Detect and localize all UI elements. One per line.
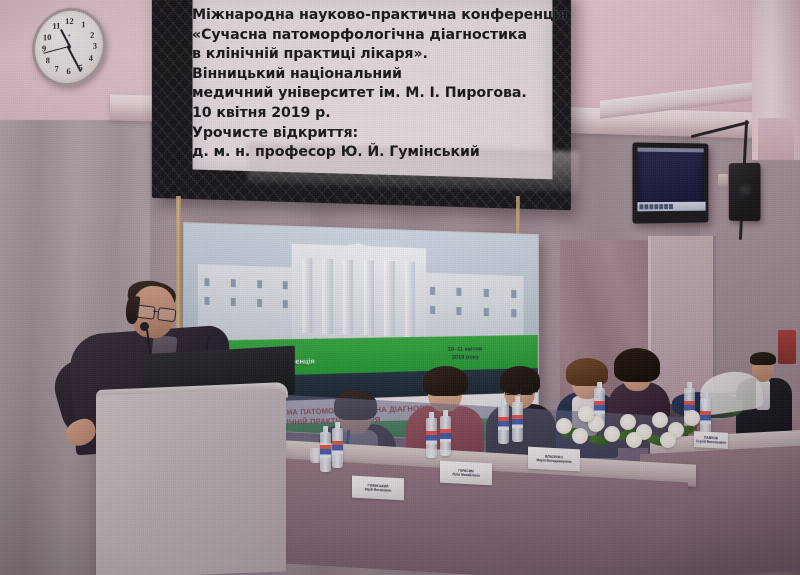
clock-numeral-3: 3 (90, 40, 100, 51)
water-bottle-1 (320, 432, 331, 472)
conference-photograph: ● 12 1 2 3 4 5 6 7 8 9 10 11 Міжнародна … (0, 0, 800, 575)
building-columns (302, 258, 415, 337)
clock-numeral-8: 8 (43, 55, 53, 66)
monitor-glare (637, 148, 703, 153)
caption-line-4: Вінницький національний (192, 65, 538, 85)
clock-numeral-6: 6 (63, 66, 73, 77)
panel-member-2-hair (423, 366, 468, 396)
caption-line-7: Урочисте відкриття: (192, 124, 538, 144)
clock-brand: ● (68, 32, 71, 38)
wall-socket (718, 174, 728, 186)
monitor-screen (637, 148, 703, 212)
caption-line-6: 10 квітня 2019 р. (192, 104, 538, 124)
monitor-taskbar (637, 202, 705, 212)
name-plate-3-line2: Марія Володимирівна (537, 458, 572, 464)
water-bottle-6 (512, 402, 523, 442)
flower-arrangement (556, 406, 706, 458)
clock-numeral-1: 1 (78, 19, 88, 30)
water-bottle-5 (498, 404, 509, 444)
water-bottle-3 (426, 418, 437, 458)
red-drape (778, 330, 796, 364)
name-plate-1: ГУМІНСЬКИЙ Юрій Йосипович (352, 476, 404, 501)
banner-date-line-2: 2019 року (415, 354, 516, 362)
name-plate-1-line2: Юрій Йосипович (365, 487, 392, 493)
name-plate-2: ГЕРАСИМ Лілія Михайлівна (440, 461, 492, 486)
panel-member-5-hair (614, 348, 660, 382)
clock-numeral-10: 10 (42, 32, 52, 43)
clock-numeral-4: 4 (86, 53, 96, 64)
clock-center-pin (67, 45, 71, 49)
banner-date: 10–11 квітня 2019 року (415, 346, 516, 362)
seated-man-hair (750, 352, 776, 365)
clock-numeral-12: 12 (64, 16, 74, 27)
lectern (96, 388, 286, 575)
photo-caption: Міжнародна науково-практична конференція… (192, 6, 538, 163)
caption-line-2: «Сучасна патоморфологічна діагностика (192, 26, 538, 46)
wall-pilaster (752, 0, 800, 160)
water-bottle-4 (440, 416, 451, 456)
clock-numeral-2: 2 (87, 29, 97, 40)
panel-member-3-glasses (505, 385, 533, 393)
caption-line-3: в клінічній практиці лікаря». (192, 45, 538, 65)
caption-line-5: медичний університет ім. М. І. Пирогова. (192, 84, 538, 104)
caption-line-1: Міжнародна науково-практична конференція (192, 6, 538, 26)
wall-mounted-monitor (632, 142, 708, 223)
name-plate-2-line2: Лілія Михайлівна (452, 472, 479, 478)
loudspeaker (729, 163, 761, 222)
clock-numeral-7: 7 (52, 63, 62, 74)
water-bottle-2 (332, 428, 343, 468)
caption-line-8: д. м. н. професор Ю. Й. Гумінський (192, 143, 538, 163)
